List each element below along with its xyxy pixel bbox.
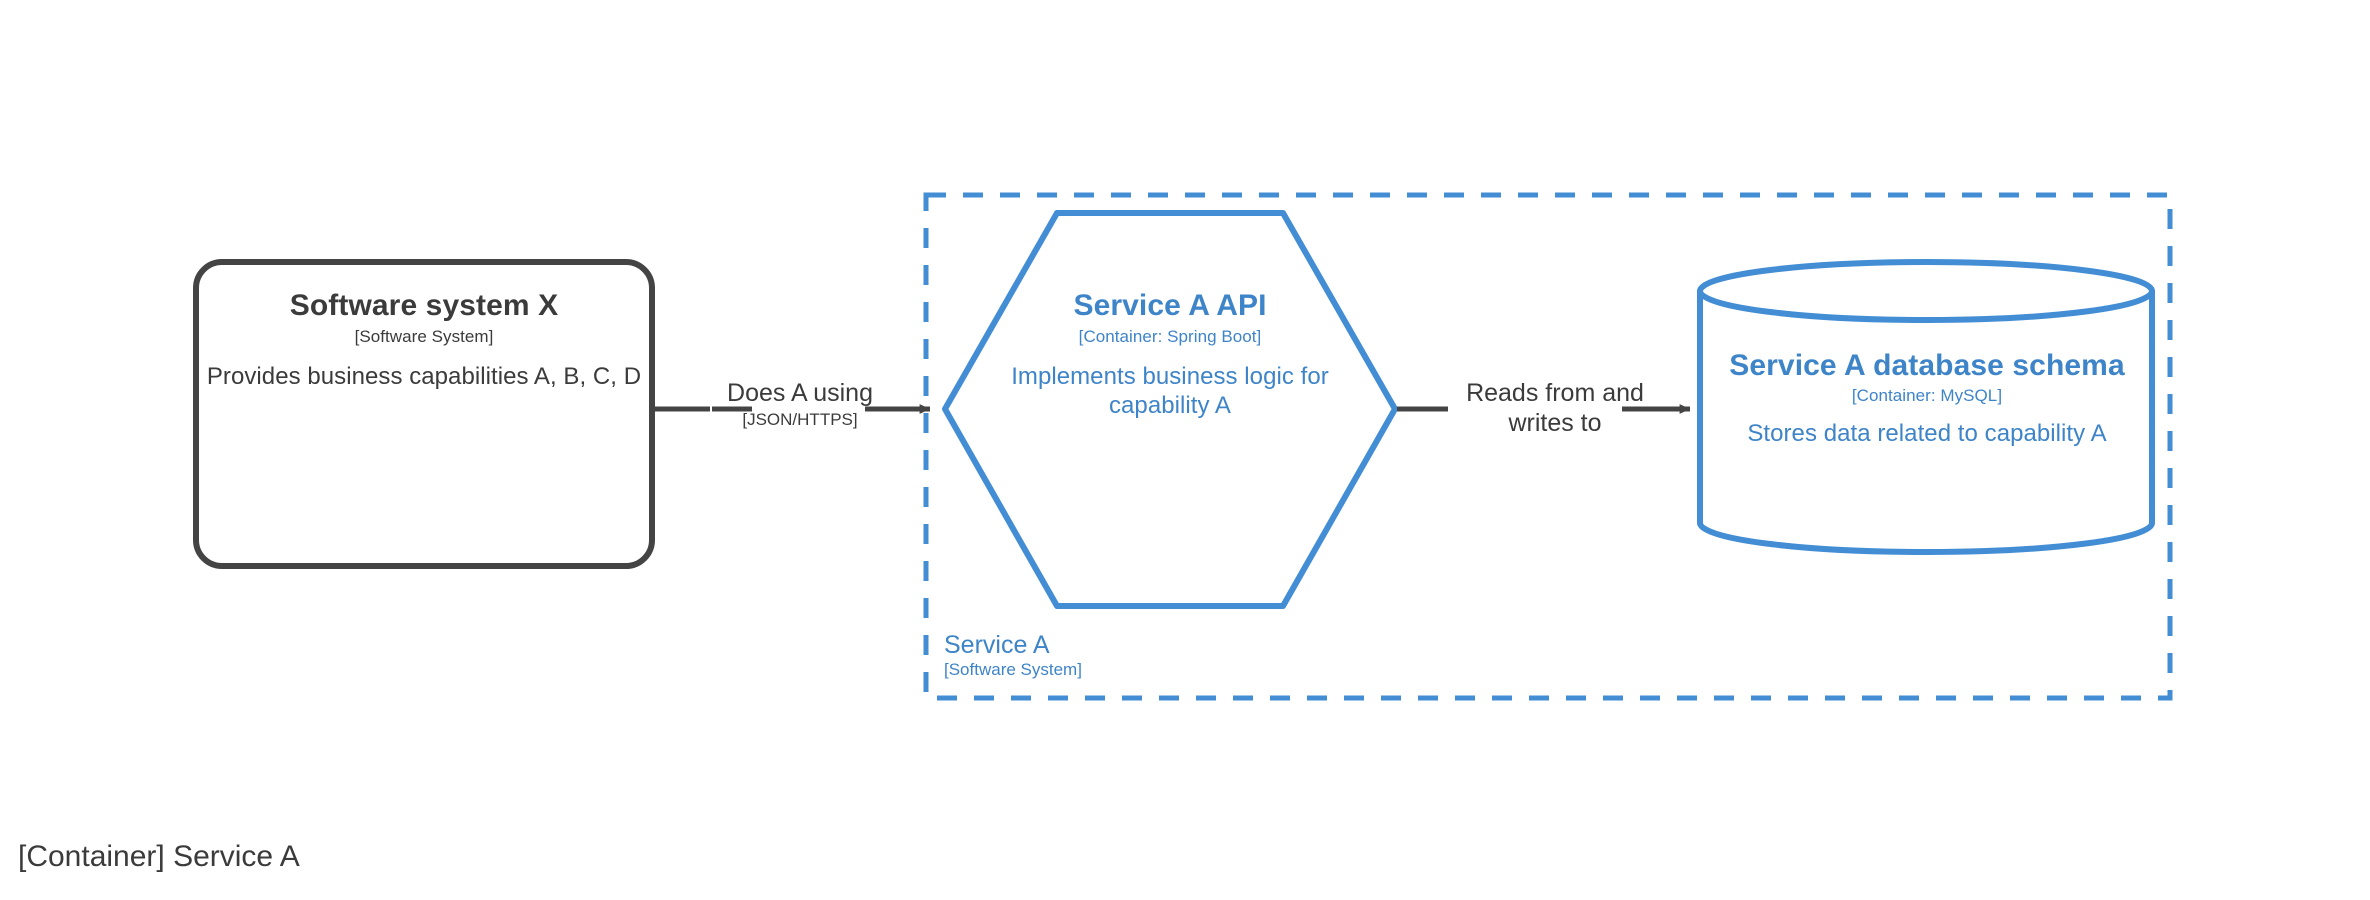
diagram-canvas: Software system X [Software System] Prov… — [0, 0, 2370, 900]
node-name: Service A API — [970, 288, 1370, 323]
boundary-type: [Software System] — [944, 660, 1082, 680]
node-label-service-a-database-schema: Service A database schema [Container: My… — [1712, 348, 2142, 449]
node-label-software-system-x: Software system X [Software System] Prov… — [196, 288, 652, 392]
node-type: [Container: MySQL] — [1712, 386, 2142, 406]
node-description: Implements business logic for capability… — [970, 363, 1370, 420]
boundary-label-service-a: Service A [Software System] — [944, 631, 1082, 680]
node-type: [Container: Spring Boot] — [970, 327, 1370, 347]
relationship-description: Does A using — [660, 378, 940, 408]
node-description: Provides business capabilities A, B, C, … — [196, 363, 652, 391]
relationship-label-2: Reads from and writes to — [1430, 378, 1680, 438]
diagram-shapes — [0, 0, 2370, 900]
node-label-service-a-api: Service A API [Container: Spring Boot] I… — [970, 288, 1370, 420]
relationship-description: Reads from and writes to — [1430, 378, 1680, 438]
relationship-technology: [JSON/HTTPS] — [660, 410, 940, 430]
node-description: Stores data related to capability A — [1712, 420, 2142, 448]
boundary-name: Service A — [944, 631, 1082, 660]
node-type: [Software System] — [196, 327, 652, 347]
node-name: Software system X — [196, 288, 652, 323]
node-name: Service A database schema — [1712, 348, 2142, 383]
diagram-caption: [Container] Service A — [18, 840, 300, 874]
relationship-label-1: Does A using [JSON/HTTPS] — [660, 378, 940, 430]
